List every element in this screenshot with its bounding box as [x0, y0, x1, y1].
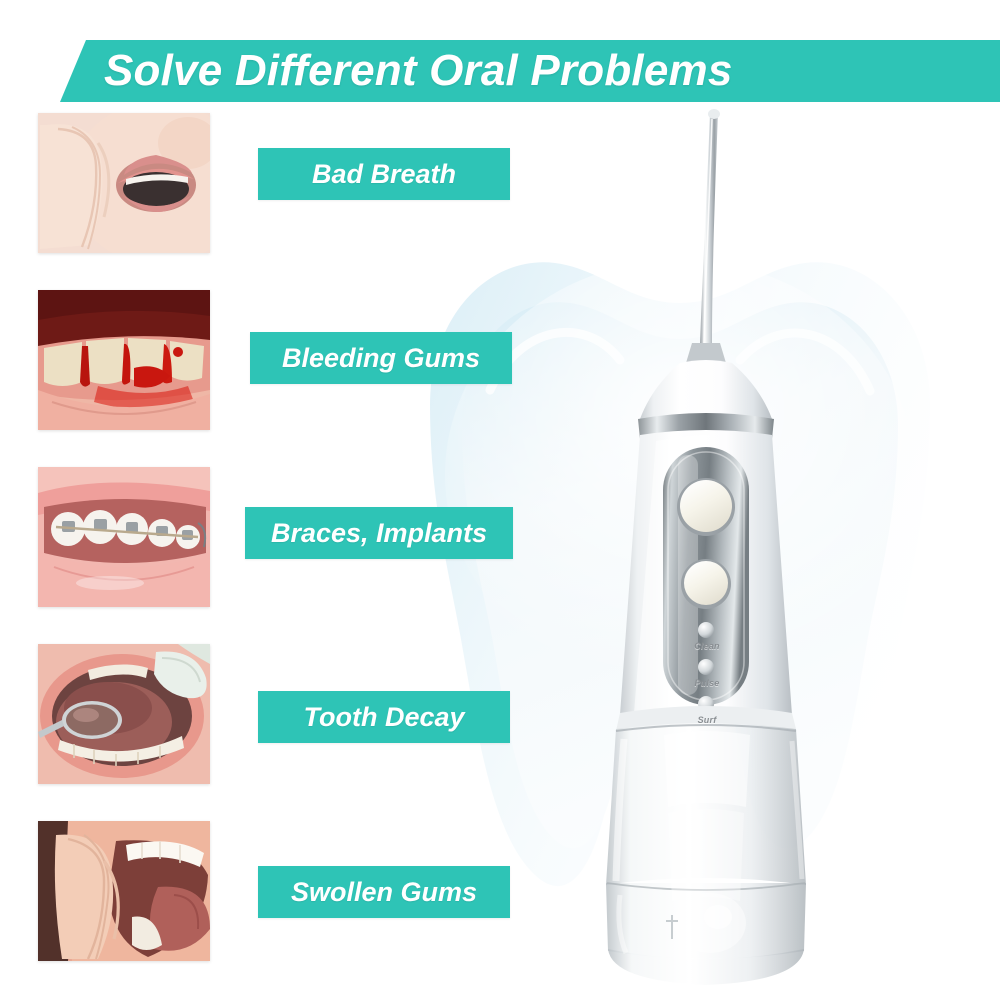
- problem-chip-braces-implants[interactable]: Braces, Implants: [245, 507, 513, 559]
- header-banner: Solve Different Oral Problems: [60, 40, 1000, 102]
- problem-label: Tooth Decay: [258, 702, 510, 733]
- product-infographic: Solve Different Oral Problems Bad Breath: [0, 0, 1000, 1000]
- problem-label: Swollen Gums: [258, 877, 510, 908]
- braces-photo: [38, 467, 210, 607]
- tooth-decay-photo: [38, 644, 210, 784]
- bleeding-gums-photo: [38, 290, 210, 430]
- mode-label-clean: Clean: [686, 641, 728, 651]
- water-flosser-device: Clean Pulse Surf: [560, 95, 860, 985]
- problem-label: Bleeding Gums: [250, 343, 512, 374]
- problem-chip-tooth-decay[interactable]: Tooth Decay: [258, 691, 510, 743]
- mode-label-surf: Surf: [686, 715, 728, 725]
- problem-label: Braces, Implants: [245, 518, 513, 549]
- led-pulse: [698, 659, 714, 675]
- problem-chip-bad-breath[interactable]: Bad Breath: [258, 148, 510, 200]
- page-title: Solve Different Oral Problems: [104, 46, 733, 96]
- power-button: [680, 480, 732, 532]
- irrigator-nozzle: [700, 113, 718, 345]
- mode-label-pulse: Pulse: [686, 678, 728, 688]
- bad-breath-photo: [38, 113, 210, 253]
- mode-button: [684, 561, 728, 605]
- problem-chip-bleeding-gums[interactable]: Bleeding Gums: [250, 332, 512, 384]
- problem-label: Bad Breath: [258, 159, 510, 190]
- swollen-gums-photo: [38, 821, 210, 961]
- led-clean: [698, 622, 714, 638]
- problem-chip-swollen-gums[interactable]: Swollen Gums: [258, 866, 510, 918]
